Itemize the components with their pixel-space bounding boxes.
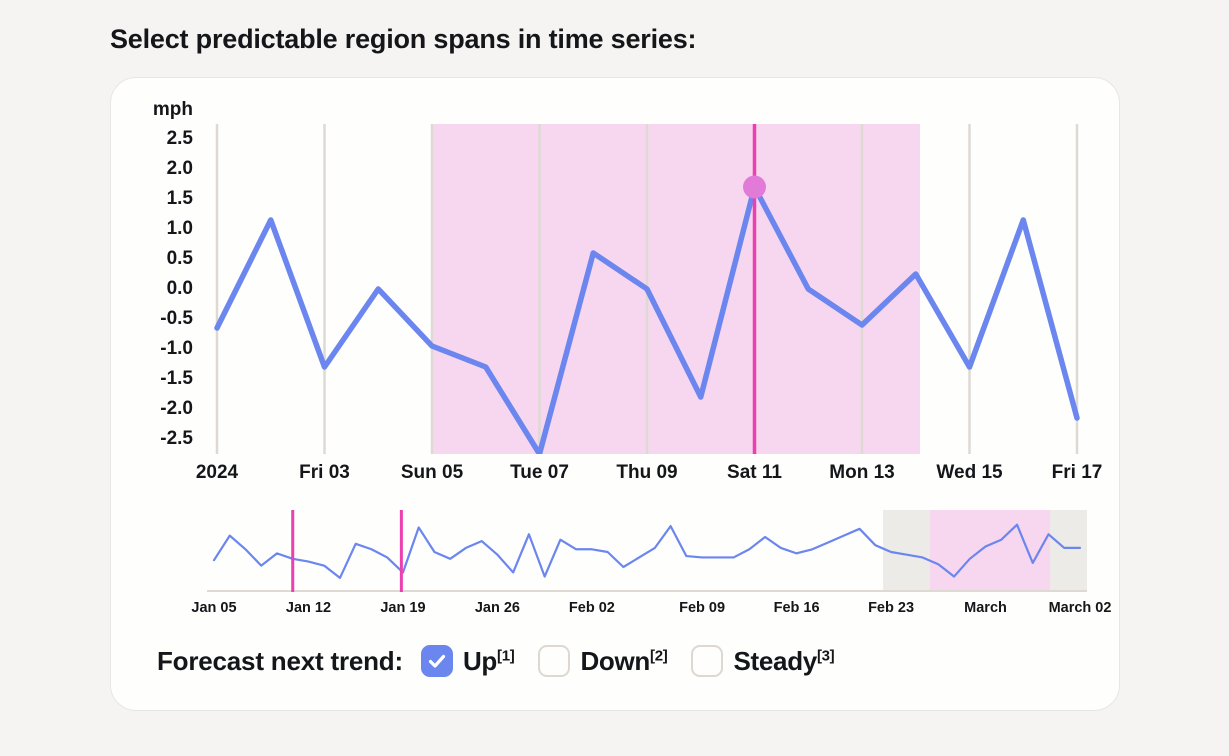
x-axis-tick-label: Sun 05 — [401, 462, 463, 484]
forecast-choice-shortcut-down: [2] — [650, 647, 667, 664]
highlight-span[interactable] — [432, 124, 920, 454]
checkbox-down[interactable] — [538, 645, 570, 677]
minimap-tick-label: March 02 — [1049, 600, 1112, 616]
minimap-tick-label: Feb 09 — [679, 600, 725, 616]
minimap-tick-label: Feb 02 — [569, 600, 615, 616]
y-axis-tick-label: -1.5 — [137, 368, 207, 390]
app-root: Select predictable region spans in time … — [0, 0, 1229, 756]
x-axis-tick-label: Sat 11 — [727, 462, 782, 484]
minimap-tick-label: Jan 19 — [380, 600, 425, 616]
minimap-tick-label: March — [964, 600, 1007, 616]
cursor-dot[interactable] — [743, 176, 766, 199]
x-axis-tick-label: Tue 07 — [510, 462, 569, 484]
y-axis-tick-label: 0.5 — [137, 248, 207, 270]
forecast-choice-label-up: Up[1] — [463, 646, 515, 677]
minimap-tick-label: Feb 16 — [774, 600, 820, 616]
forecast-label: Forecast next trend: — [157, 646, 403, 677]
forecast-choice-steady[interactable]: Steady[3] — [691, 645, 834, 677]
minimap-plot[interactable] — [207, 510, 1087, 592]
x-axis-tick-label: Fri 03 — [299, 462, 350, 484]
minimap-tick-label: Feb 23 — [868, 600, 914, 616]
checkbox-steady[interactable] — [691, 645, 723, 677]
highlight-span-group — [432, 124, 920, 454]
forecast-choice-label-down: Down[2] — [580, 646, 667, 677]
overview-minimap[interactable]: Jan 05Jan 12Jan 19Jan 26Feb 02Feb 09Feb … — [207, 510, 1087, 630]
chart-card: mph2.52.01.51.00.50.0-0.5-1.0-1.5-2.0-2.… — [110, 77, 1120, 711]
forecast-choice-shortcut-steady: [3] — [817, 647, 834, 664]
y-axis-tick-label: 1.5 — [137, 188, 207, 210]
x-axis-tick-label: 2024 — [196, 462, 238, 484]
checkbox-up[interactable] — [421, 645, 453, 677]
minimap-tick-label: Jan 05 — [191, 600, 236, 616]
y-axis-tick-label: -0.5 — [137, 308, 207, 330]
forecast-controls: Forecast next trend: Up[1]Down[2]Steady[… — [157, 634, 1087, 688]
y-axis-tick-label: 2.0 — [137, 158, 207, 180]
brush-highlight[interactable] — [930, 510, 1050, 592]
x-axis-tick-label: Wed 15 — [936, 462, 1002, 484]
forecast-choice-group[interactable]: Up[1]Down[2]Steady[3] — [421, 645, 858, 677]
x-axis-tick-label: Fri 17 — [1052, 462, 1103, 484]
y-axis-tick-label: -1.0 — [137, 338, 207, 360]
y-axis-tick-label: -2.5 — [137, 428, 207, 450]
forecast-choice-label-steady: Steady[3] — [733, 646, 834, 677]
forecast-choice-down[interactable]: Down[2] — [538, 645, 667, 677]
forecast-choice-up[interactable]: Up[1] — [421, 645, 515, 677]
x-axis-tick-label: Mon 13 — [829, 462, 894, 484]
y-axis-tick-label: 0.0 — [137, 278, 207, 300]
y-axis-tick-label: 2.5 — [137, 128, 207, 150]
y-axis-unit: mph — [137, 99, 207, 121]
page-title: Select predictable region spans in time … — [110, 24, 696, 55]
minimap-tick-label: Jan 26 — [475, 600, 520, 616]
forecast-choice-shortcut-up: [1] — [497, 647, 514, 664]
minimap-tick-label: Jan 12 — [286, 600, 331, 616]
y-axis-tick-label: -2.0 — [137, 398, 207, 420]
y-axis-tick-label: 1.0 — [137, 218, 207, 240]
main-chart[interactable]: mph2.52.01.51.00.50.0-0.5-1.0-1.5-2.0-2.… — [207, 124, 1087, 500]
x-axis-tick-label: Thu 09 — [616, 462, 677, 484]
check-icon — [426, 650, 448, 672]
main-chart-plot[interactable] — [207, 124, 1087, 454]
